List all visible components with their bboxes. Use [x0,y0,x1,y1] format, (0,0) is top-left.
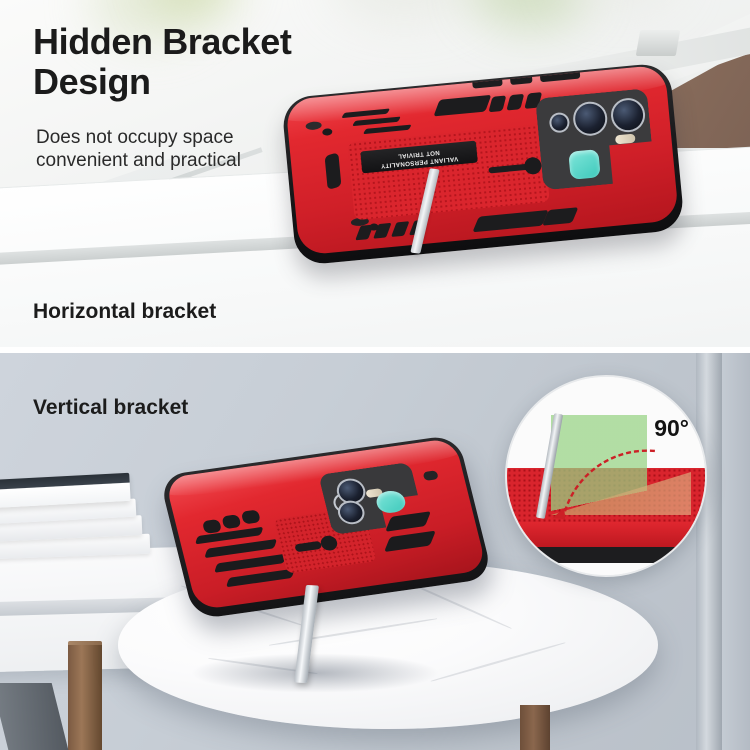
side-table-wooden-leg [68,645,102,750]
bottom-panel-vertical-bracket: 90° Vertical bracket [0,353,750,750]
case-armor-plate [488,95,506,112]
case-armor-plate [385,511,431,532]
case-vent-stripe [214,554,287,573]
desk-riser-block [636,30,681,56]
case-cutout-hole [221,514,241,529]
detail-background-bottom [507,563,705,575]
case-cutout-hole [202,519,222,534]
page-headline: Hidden Bracket Design [33,22,413,103]
side-table-metal-leg [0,683,68,750]
case-vent-stripe [226,569,295,588]
marble-table-wooden-leg [520,705,550,750]
case-armor-plate [506,94,524,111]
page-subtitle: Does not occupy space convenient and pra… [36,126,366,172]
marble-vein [269,618,437,646]
case-vent-stripe [391,221,409,237]
case-button-cutout [423,470,439,481]
detail-case-dark-edge [507,547,705,563]
case-vent-stripe [363,125,412,135]
product-image-stage: VALIANT PERSONALITYNOT TRIVIAL [0,0,750,750]
detail-circle-90-degree: 90° [505,375,707,577]
background-wall-edge [722,353,750,750]
top-panel-horizontal-bracket: VALIANT PERSONALITYNOT TRIVIAL [0,0,750,347]
marble-vein [431,642,566,682]
case-armor-plate [384,531,436,552]
case-textured-mesh-panel [347,124,549,220]
caption-horizontal-bracket: Horizontal bracket [33,300,216,324]
case-cutout-hole [241,509,261,524]
case-armor-plate [472,210,548,232]
background-bokeh-blob [470,0,590,30]
teal-accent-square [568,149,601,180]
caption-vertical-bracket: Vertical bracket [33,396,188,420]
case-vent-stripe [204,539,277,558]
angle-label-90-degrees: 90° [654,415,689,442]
case-vent-stripe [355,225,373,241]
phone-cast-shadow [190,653,440,693]
kickstand-label-text: VALIANT PERSONALITYNOT TRIVIAL [380,145,459,169]
